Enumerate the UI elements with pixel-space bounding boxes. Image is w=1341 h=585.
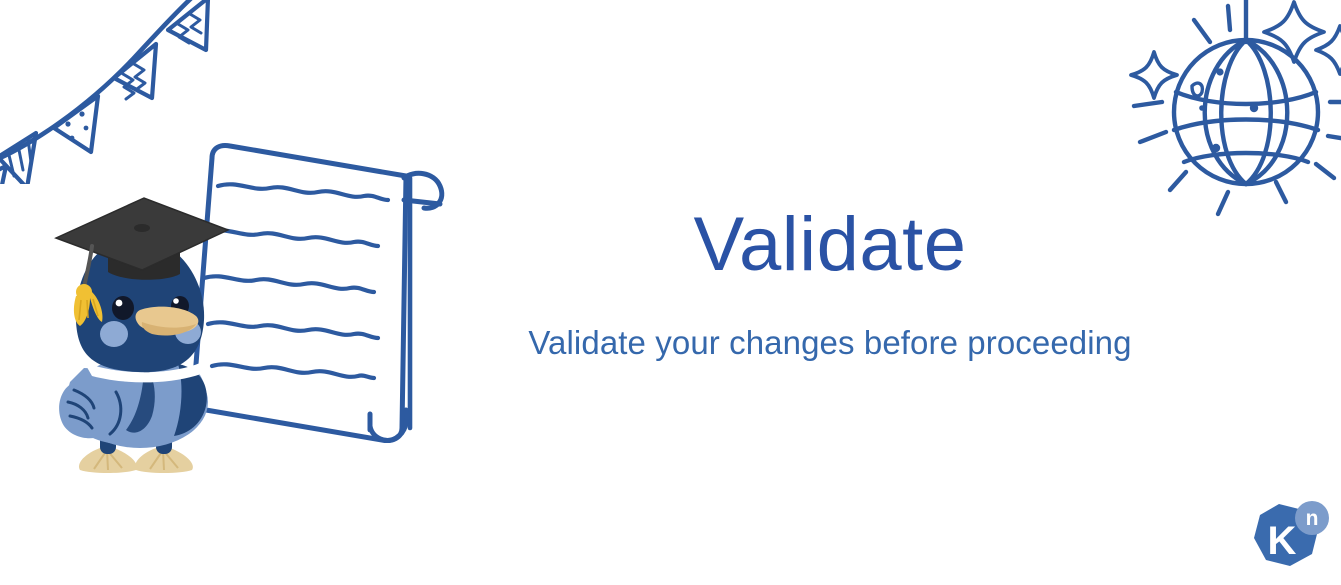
headline-block: Validate Validate your changes before pr… [470, 205, 1190, 362]
graduate-bird-mascot-icon [48, 186, 258, 476]
brand-logo[interactable]: K n [1248, 498, 1330, 576]
slide-canvas: Validate Validate your changes before pr… [0, 0, 1341, 585]
disco-ball-icon [1118, 0, 1341, 230]
party-bunting-garland-icon [0, 0, 232, 184]
graduation-cap-group [56, 198, 228, 326]
bird-feet-group [79, 448, 193, 473]
diploma-scroll-icon [178, 138, 468, 448]
page-subtitle: Validate your changes before proceeding [470, 323, 1190, 363]
logo-letter-n: n [1306, 507, 1319, 530]
page-title: Validate [470, 205, 1190, 285]
logo-letter-k: K [1268, 519, 1297, 563]
